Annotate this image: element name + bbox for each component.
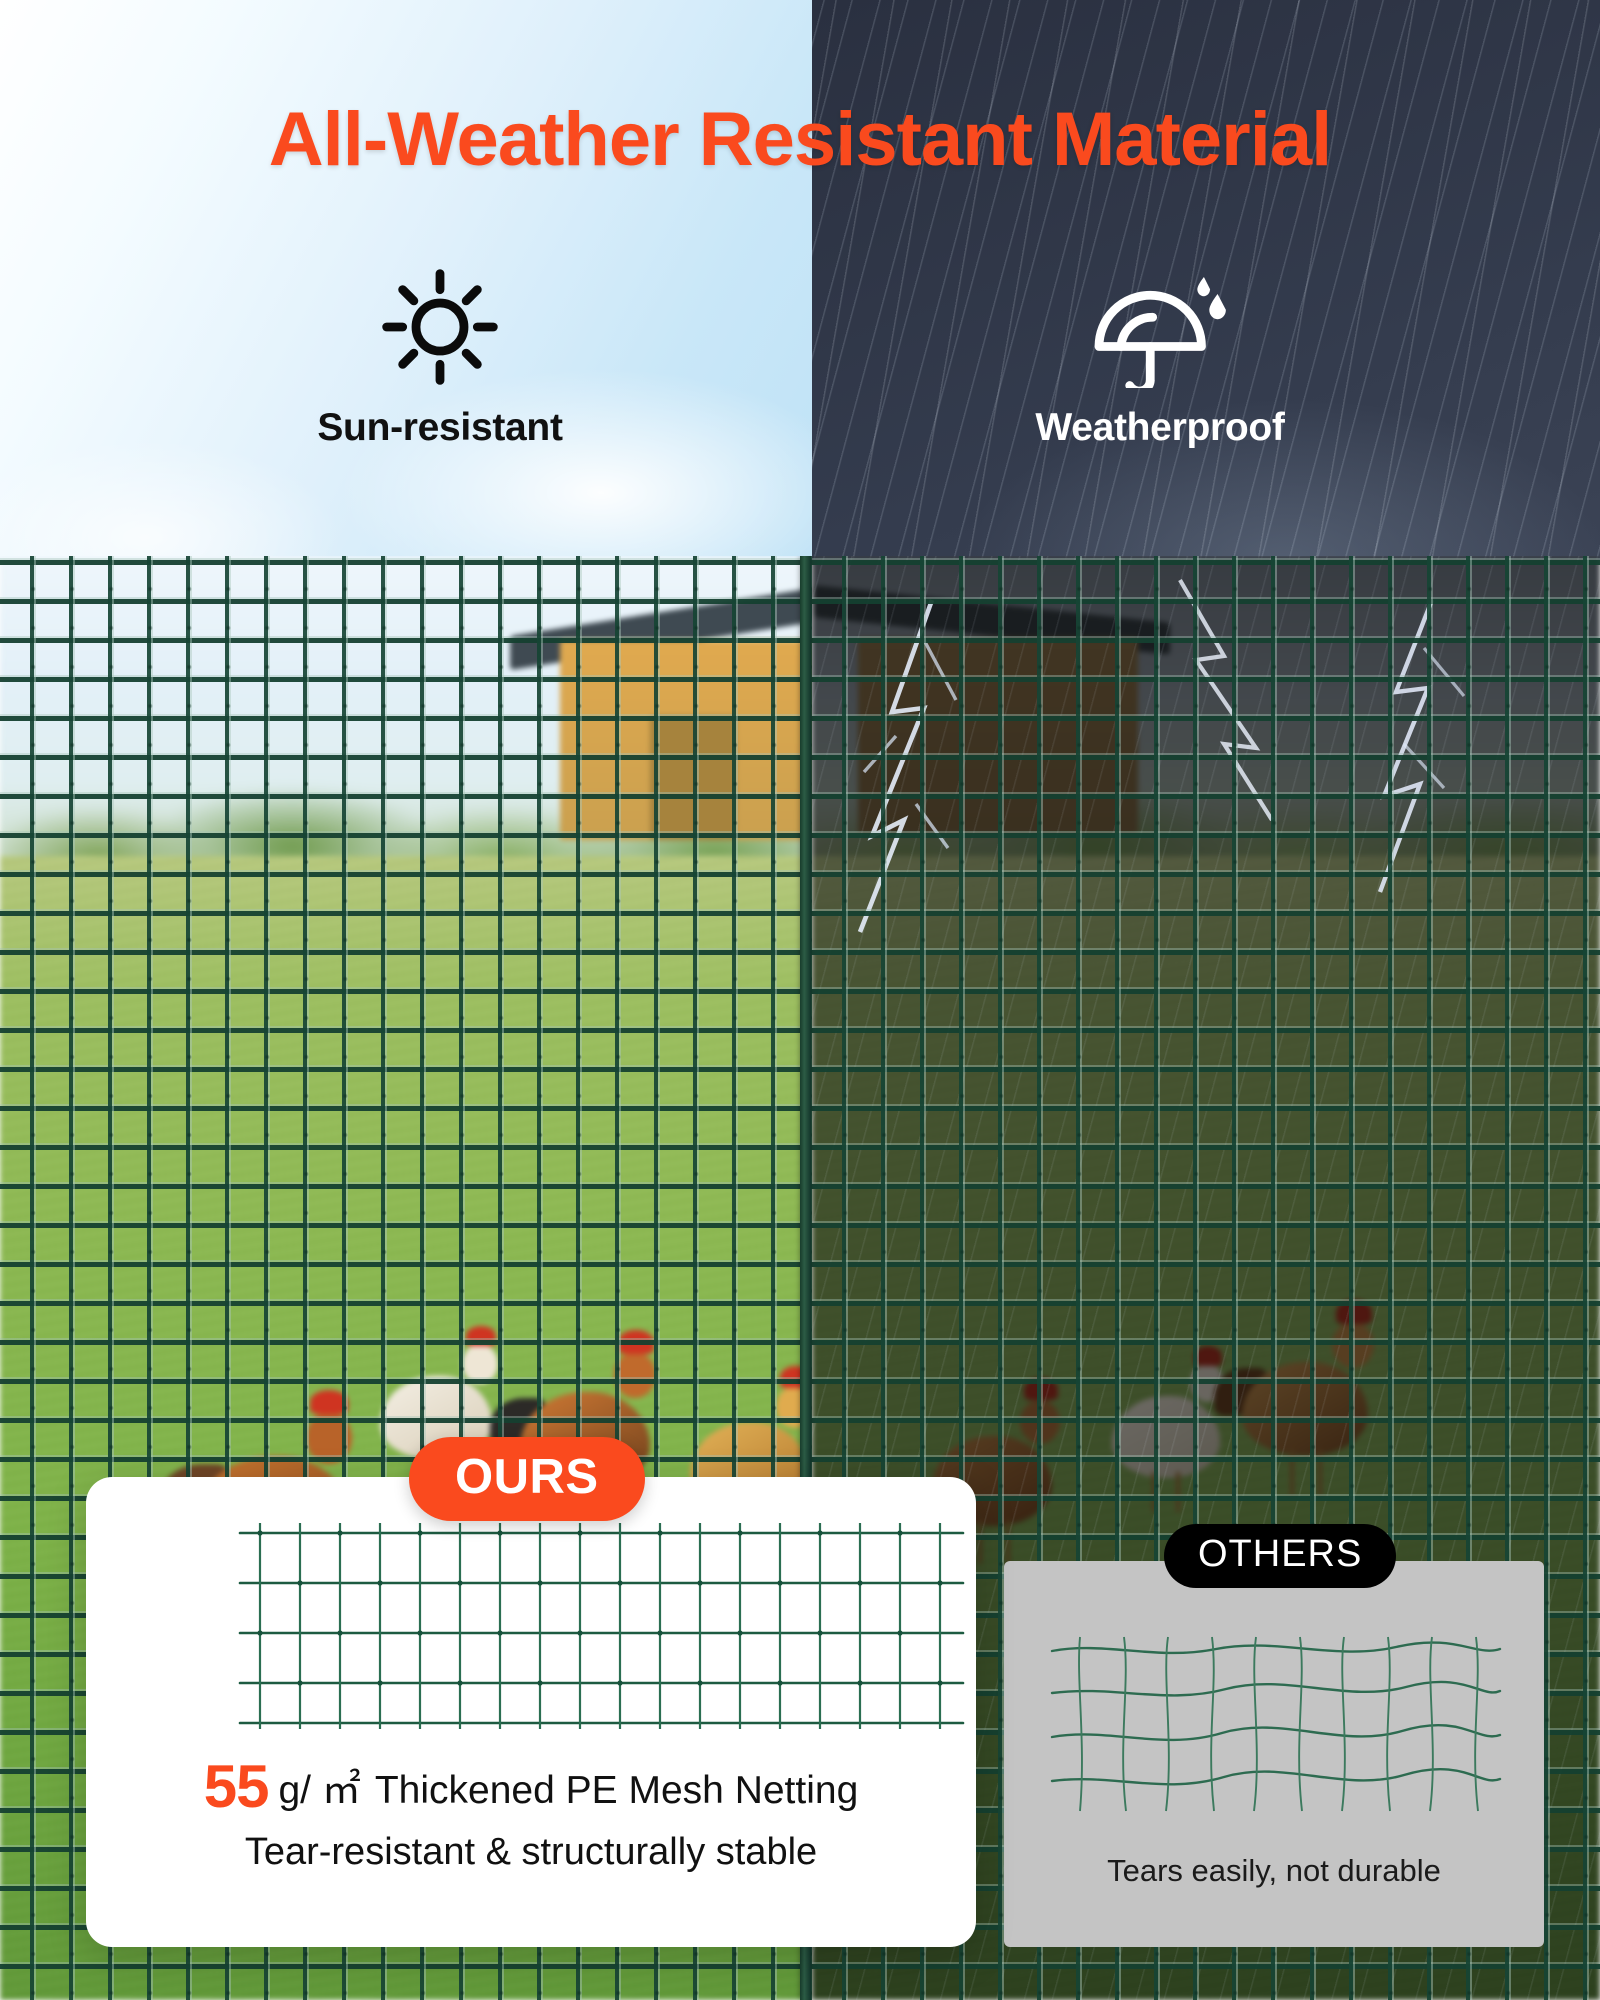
ours-subline: Tear-resistant & structurally stable bbox=[86, 1831, 976, 1874]
ours-weight-unit: g/ ㎡ bbox=[278, 1769, 360, 1812]
ours-badge: OURS bbox=[409, 1437, 645, 1521]
others-badge: OTHERS bbox=[1164, 1524, 1396, 1588]
others-mesh-swatch bbox=[1046, 1631, 1506, 1816]
feature-label-weatherproof: Weatherproof bbox=[960, 406, 1360, 450]
ours-weight-value: 55 bbox=[204, 1753, 269, 1820]
ours-spec-text: 55g/ ㎡Thickened PE Mesh Netting Tear-res… bbox=[86, 1752, 976, 1874]
others-mesh-sample bbox=[1046, 1631, 1506, 1816]
feature-weatherproof: Weatherproof bbox=[960, 262, 1360, 450]
feature-sun-resistant: Sun-resistant bbox=[240, 262, 640, 450]
feature-label-sun: Sun-resistant bbox=[240, 406, 640, 450]
page-title: All-Weather Resistant Material bbox=[0, 96, 1600, 183]
umbrella-rain-icon bbox=[960, 262, 1360, 392]
product-infographic: All-Weather Resistant Material Sun-resis… bbox=[0, 0, 1600, 2000]
ours-mesh-sample bbox=[234, 1517, 969, 1732]
others-caption: Tears easily, not durable bbox=[1004, 1853, 1544, 1889]
sun-icon bbox=[240, 262, 640, 392]
ours-headline-rest: Thickened PE Mesh Netting bbox=[375, 1769, 858, 1812]
ours-panel: 55g/ ㎡Thickened PE Mesh Netting Tear-res… bbox=[86, 1477, 976, 1947]
others-panel: Tears easily, not durable bbox=[1004, 1561, 1544, 1947]
ours-mesh-swatch bbox=[234, 1517, 969, 1732]
